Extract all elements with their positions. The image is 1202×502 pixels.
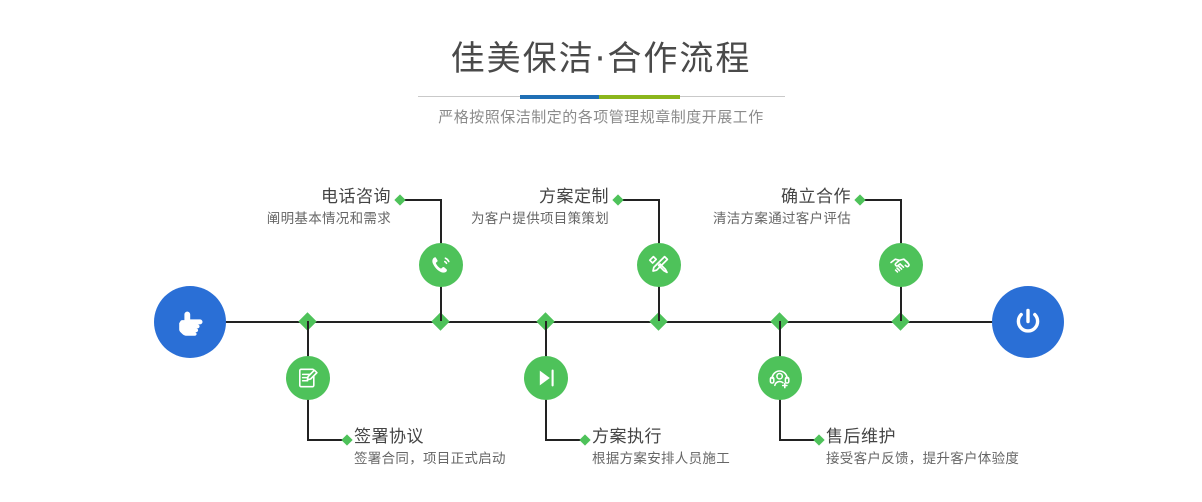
step-label-bottom-1: 签署协议 签署合同，项目正式启动 (354, 426, 506, 470)
label-marker-top-3 (854, 194, 865, 205)
step-title: 方案定制 (400, 186, 609, 208)
title-divider (418, 96, 785, 97)
step-label-top-1: 电话咨询 阐明基本情况和需求 (155, 186, 391, 230)
customer-service-icon (766, 364, 794, 392)
divider-segment-green (599, 95, 680, 99)
step-description: 根据方案安排人员施工 (592, 448, 730, 470)
step-description: 签署合同，项目正式启动 (354, 448, 506, 470)
step-title: 电话咨询 (155, 186, 391, 208)
step-description: 清洁方案通过客户评估 (640, 208, 851, 230)
step-label-bottom-2: 方案执行 根据方案安排人员施工 (592, 426, 730, 470)
step-label-top-2: 方案定制 为客户提供项目策策划 (400, 186, 609, 230)
step-icon-execute (524, 356, 568, 400)
hand-pointing-icon (170, 302, 210, 342)
step-title: 确立合作 (640, 186, 851, 208)
timeline-start-node (154, 286, 226, 358)
label-marker-bottom-2 (579, 434, 590, 445)
page-title: 佳美保洁·合作流程 (0, 36, 1202, 82)
label-marker-top-2 (612, 194, 623, 205)
connector-horizontal-top-3 (862, 199, 902, 201)
page-subtitle: 严格按照保洁制定的各项管理规章制度开展工作 (0, 105, 1202, 129)
play-execute-icon (532, 364, 560, 392)
step-description: 阐明基本情况和需求 (155, 208, 391, 230)
document-sign-icon (294, 364, 322, 392)
pencil-plan-icon (645, 251, 673, 279)
step-label-bottom-3: 售后维护 接受客户反馈，提升客户体验度 (826, 426, 1019, 470)
step-description: 为客户提供项目策策划 (400, 208, 609, 230)
timeline-end-node (992, 286, 1064, 358)
step-title: 售后维护 (826, 426, 1019, 448)
step-icon-plan (637, 243, 681, 287)
label-marker-bottom-3 (813, 434, 824, 445)
phone-call-icon (427, 251, 455, 279)
power-icon (1008, 302, 1048, 342)
divider-segment-blue (520, 95, 599, 99)
step-icon-handshake (879, 243, 923, 287)
step-title: 方案执行 (592, 426, 730, 448)
step-description: 接受客户反馈，提升客户体验度 (826, 448, 1019, 470)
step-icon-phone (419, 243, 463, 287)
step-title: 签署协议 (354, 426, 506, 448)
label-marker-bottom-1 (341, 434, 352, 445)
handshake-icon (887, 251, 915, 279)
process-flow-infographic: 佳美保洁·合作流程 严格按照保洁制定的各项管理规章制度开展工作 (0, 0, 1202, 502)
step-label-top-3: 确立合作 清洁方案通过客户评估 (640, 186, 851, 230)
step-icon-document (286, 356, 330, 400)
step-icon-support (758, 356, 802, 400)
